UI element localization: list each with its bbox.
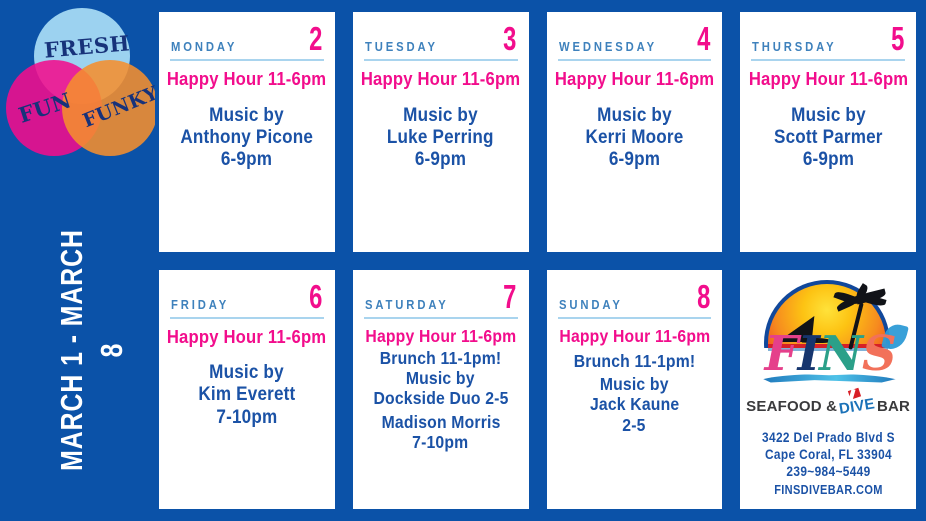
day-card-monday[interactable]: MONDAY 2 Happy Hour 11-6pm Music by Anth… xyxy=(155,8,339,256)
event-line: Music by xyxy=(600,375,669,394)
card-header: SUNDAY 8 xyxy=(556,280,714,312)
card-header: SATURDAY 7 xyxy=(362,280,520,312)
day-number-label: 8 xyxy=(697,282,710,312)
card-body: Happy Hour 11-6pm Music by Anthony Picon… xyxy=(168,61,326,246)
happy-hour-text: Happy Hour 11-6pm xyxy=(748,69,907,90)
event-line: Music by xyxy=(791,105,866,126)
day-name-label: MONDAY xyxy=(171,40,237,54)
happy-hour-text: Happy Hour 11-6pm xyxy=(167,69,326,90)
day-number-label: 4 xyxy=(697,24,710,54)
card-body: Happy Hour 11-6pm Music by Kim Everett 7… xyxy=(168,319,326,504)
event-line: Anthony Picone xyxy=(181,127,314,148)
day-card-friday[interactable]: FRIDAY 6 Happy Hour 11-6pm Music by Kim … xyxy=(155,266,339,514)
happy-hour-text: Happy Hour 11-6pm xyxy=(167,327,326,348)
fins-tagline: SEAFOOD & DIVE BAR xyxy=(740,396,916,418)
day-card-saturday[interactable]: SATURDAY 7 Happy Hour 11-6pm Brunch 11-1… xyxy=(349,266,533,514)
address-line-2: Cape Coral, FL 33904 xyxy=(762,446,895,463)
day-name-label: THURSDAY xyxy=(752,40,837,54)
event-line: 6-9pm xyxy=(221,149,272,170)
date-range-text: MARCH 1 - MARCH 8 xyxy=(52,218,132,482)
card-body: Happy Hour 11-6pm Music by Scott Parmer … xyxy=(749,61,907,246)
event-line: Kim Everett xyxy=(198,384,295,405)
day-name-label: TUESDAY xyxy=(365,40,438,54)
day-card-thursday[interactable]: THURSDAY 5 Happy Hour 11-6pm Music by Sc… xyxy=(736,8,920,256)
fins-letter-s: S xyxy=(862,326,896,382)
left-rail: FRESH FUN FUNKY MARCH 1 - MARCH 8 xyxy=(0,0,152,521)
day-card-sunday[interactable]: SUNDAY 8 Happy Hour 11-6pm Brunch 11-1pm… xyxy=(543,266,727,514)
day-number-label: 6 xyxy=(310,282,323,312)
fins-wordmark: FINS xyxy=(748,328,912,380)
date-range-banner: MARCH 1 - MARCH 8 xyxy=(52,185,92,515)
happy-hour-text: Happy Hour 11-6pm xyxy=(555,69,714,90)
tagline-dive: DIVE xyxy=(838,395,876,417)
day-name-label: FRIDAY xyxy=(171,298,229,312)
event-line: 7-10pm xyxy=(412,433,468,452)
event-line: Music by xyxy=(210,362,285,383)
card-body: Happy Hour 11-6pm Brunch 11-1pm! Music b… xyxy=(556,319,714,504)
phone-number[interactable]: 239~984~5449 xyxy=(762,463,895,480)
event-line: Kerri Moore xyxy=(585,127,683,148)
fins-logo-card[interactable]: FINS SEAFOOD & DIVE BAR 3422 Del Prado B… xyxy=(736,266,920,514)
day-name-label: SATURDAY xyxy=(365,298,449,312)
event-line: Brunch 11-1pm! xyxy=(574,352,696,371)
happy-hour-text: Happy Hour 11-6pm xyxy=(361,69,520,90)
card-header: FRIDAY 6 xyxy=(168,280,326,312)
calendar-poster: FRESH FUN FUNKY MARCH 1 - MARCH 8 MONDAY… xyxy=(0,0,926,521)
event-line: 7-10pm xyxy=(216,407,277,428)
day-name-label: SUNDAY xyxy=(559,298,623,312)
card-body: Happy Hour 11-6pm Brunch 11-1pm! Music b… xyxy=(362,319,520,504)
card-header: MONDAY 2 xyxy=(168,22,326,54)
fresh-fun-funky-logo: FRESH FUN FUNKY xyxy=(6,8,156,160)
tagline-seafood: SEAFOOD & xyxy=(746,398,837,415)
event-line: Dockside Duo 2-5 xyxy=(373,389,508,408)
event-line: 6-9pm xyxy=(802,149,853,170)
day-name-label: WEDNESDAY xyxy=(559,40,657,54)
website-url[interactable]: FINSDIVEBAR.COM xyxy=(762,482,895,499)
event-line: 6-9pm xyxy=(415,149,466,170)
card-header: WEDNESDAY 4 xyxy=(556,22,714,54)
event-line: Luke Perring xyxy=(387,127,494,148)
day-card-tuesday[interactable]: TUESDAY 3 Happy Hour 11-6pm Music by Luk… xyxy=(349,8,533,256)
event-line: Music by xyxy=(210,105,285,126)
card-body: Happy Hour 11-6pm Music by Luke Perring … xyxy=(362,61,520,246)
contact-block: 3422 Del Prado Blvd S Cape Coral, FL 339… xyxy=(753,429,904,499)
happy-hour-text: Happy Hour 11-6pm xyxy=(559,327,710,346)
happy-hour-text: Happy Hour 11-6pm xyxy=(365,327,516,346)
event-line: Jack Kaune xyxy=(590,395,679,414)
day-number-label: 7 xyxy=(503,282,516,312)
fins-logo-artwork: FINS xyxy=(742,278,914,396)
event-line: Madison Morris xyxy=(381,413,500,432)
day-number-label: 3 xyxy=(503,24,516,54)
event-line: 2-5 xyxy=(623,416,646,435)
event-line: Music by xyxy=(406,369,475,388)
day-number-label: 2 xyxy=(310,24,323,54)
event-line: Scott Parmer xyxy=(774,127,883,148)
event-line: 6-9pm xyxy=(609,149,660,170)
event-line: Music by xyxy=(597,105,672,126)
tagline-bar: BAR xyxy=(877,398,910,415)
card-body: Happy Hour 11-6pm Music by Kerri Moore 6… xyxy=(556,61,714,246)
event-line: Brunch 11-1pm! xyxy=(380,349,502,368)
address-line-1: 3422 Del Prado Blvd S xyxy=(762,429,895,446)
card-header: THURSDAY 5 xyxy=(749,22,907,54)
tagline-dive-text: DIVE xyxy=(838,395,876,417)
event-line: Music by xyxy=(403,105,478,126)
day-number-label: 5 xyxy=(891,24,904,54)
week-grid: MONDAY 2 Happy Hour 11-6pm Music by Anth… xyxy=(155,8,920,513)
fins-letter-i: I xyxy=(798,326,819,382)
card-header: TUESDAY 3 xyxy=(362,22,520,54)
day-card-wednesday[interactable]: WEDNESDAY 4 Happy Hour 11-6pm Music by K… xyxy=(543,8,727,256)
fins-letter-n: N xyxy=(819,326,862,382)
fins-letter-f: F xyxy=(765,326,798,382)
